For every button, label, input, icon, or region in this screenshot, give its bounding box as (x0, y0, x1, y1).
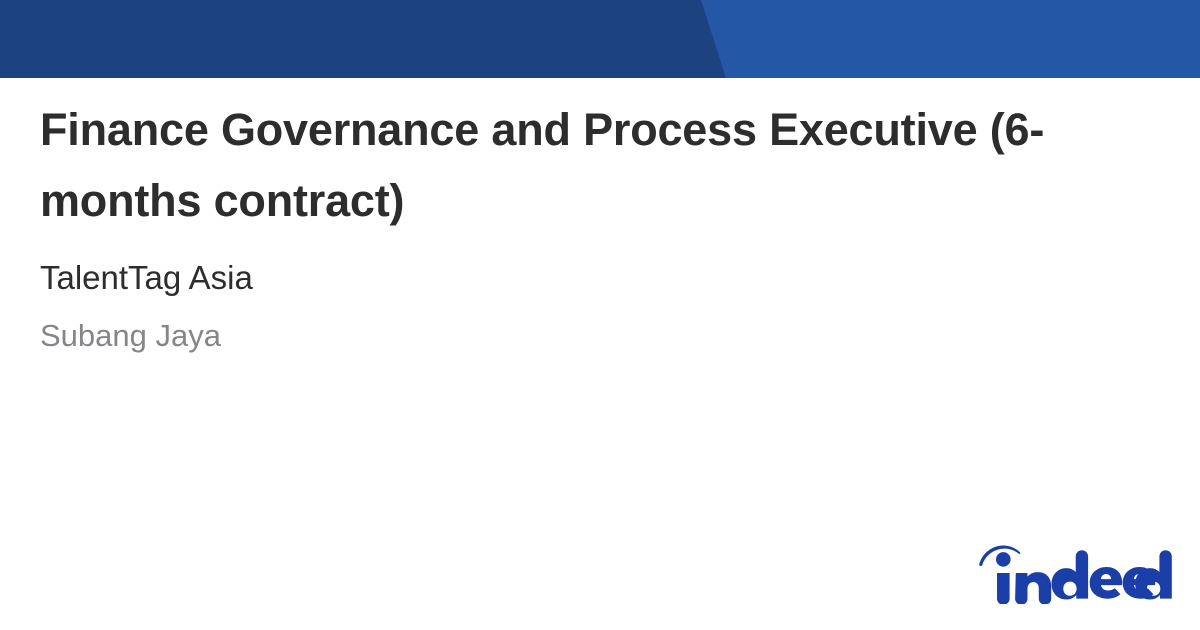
job-title: Finance Governance and Process Executive… (40, 94, 1130, 236)
header-band (0, 0, 1200, 78)
company-name: TalentTag Asia (40, 256, 1160, 300)
job-info-block: Finance Governance and Process Executive… (40, 94, 1160, 357)
job-location: Subang Jaya (40, 315, 1160, 357)
indeed-wordmark-icon (979, 545, 1172, 604)
indeed-logo[interactable] (976, 542, 1172, 604)
job-posting-card: Finance Governance and Process Executive… (0, 0, 1200, 630)
